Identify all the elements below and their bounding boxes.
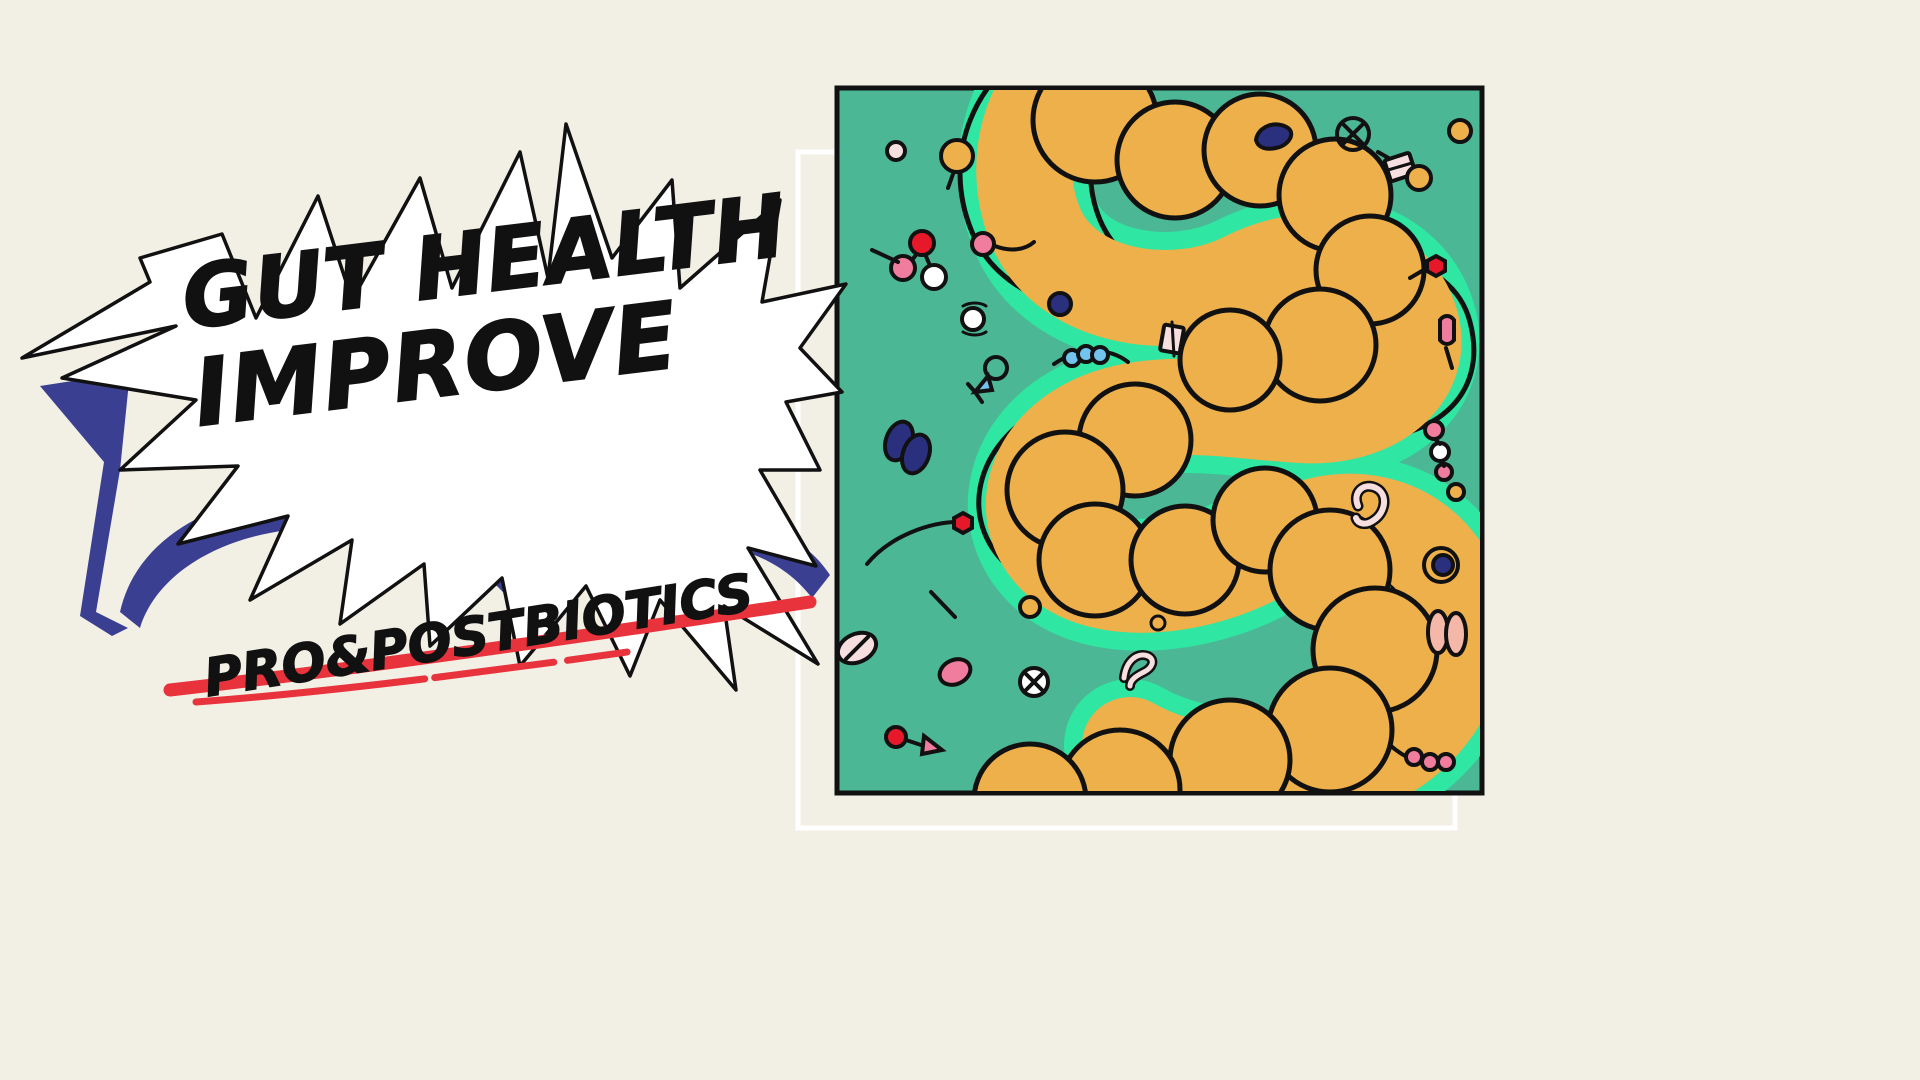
title-bubble-layer [0,0,1920,1080]
poster-canvas: GUT HEALTH IMPROVE PRO&POSTBIOTICS pale-… [0,0,1920,1080]
